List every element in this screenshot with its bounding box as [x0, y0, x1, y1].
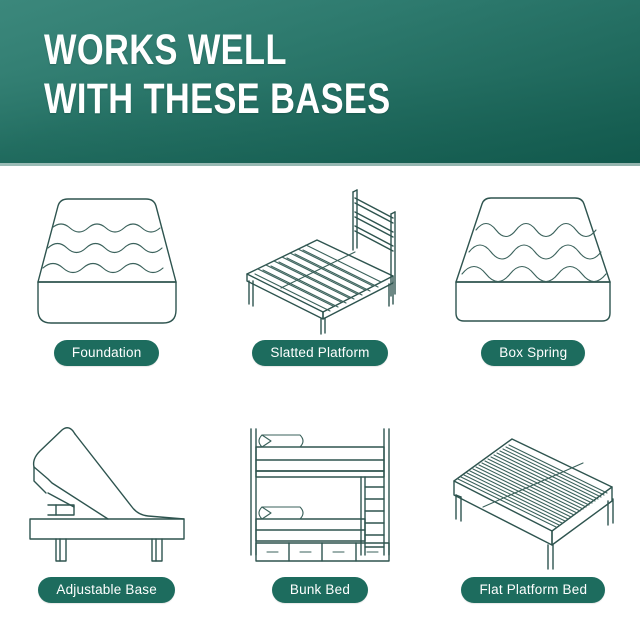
slatted-platform-bed-icon	[225, 178, 415, 338]
base-card-adjustable-base[interactable]: Adjustable Base	[0, 403, 213, 640]
base-label: Adjustable Base	[38, 577, 175, 603]
foundation-mattress-icon	[12, 178, 202, 338]
base-card-foundation[interactable]: Foundation	[0, 166, 213, 403]
bases-grid: Foundation	[0, 166, 640, 640]
infographic-page: WORKS WELL WITH THESE BASES	[0, 0, 640, 640]
flat-platform-bed-icon	[438, 415, 628, 575]
base-card-slatted-platform[interactable]: Slatted Platform	[213, 166, 426, 403]
base-card-flat-platform-bed[interactable]: Flat Platform Bed	[427, 403, 640, 640]
base-label: Foundation	[54, 340, 160, 366]
base-label: Bunk Bed	[272, 577, 368, 603]
base-label: Flat Platform Bed	[461, 577, 605, 603]
base-label: Box Spring	[481, 340, 585, 366]
base-card-box-spring[interactable]: Box Spring	[427, 166, 640, 403]
adjustable-base-icon	[12, 415, 202, 575]
box-spring-icon	[438, 178, 628, 338]
base-label: Slatted Platform	[252, 340, 387, 366]
bunk-bed-icon	[225, 415, 415, 575]
page-title: WORKS WELL WITH THESE BASES	[44, 26, 391, 124]
base-card-bunk-bed[interactable]: Bunk Bed	[213, 403, 426, 640]
header-banner: WORKS WELL WITH THESE BASES	[0, 0, 640, 166]
